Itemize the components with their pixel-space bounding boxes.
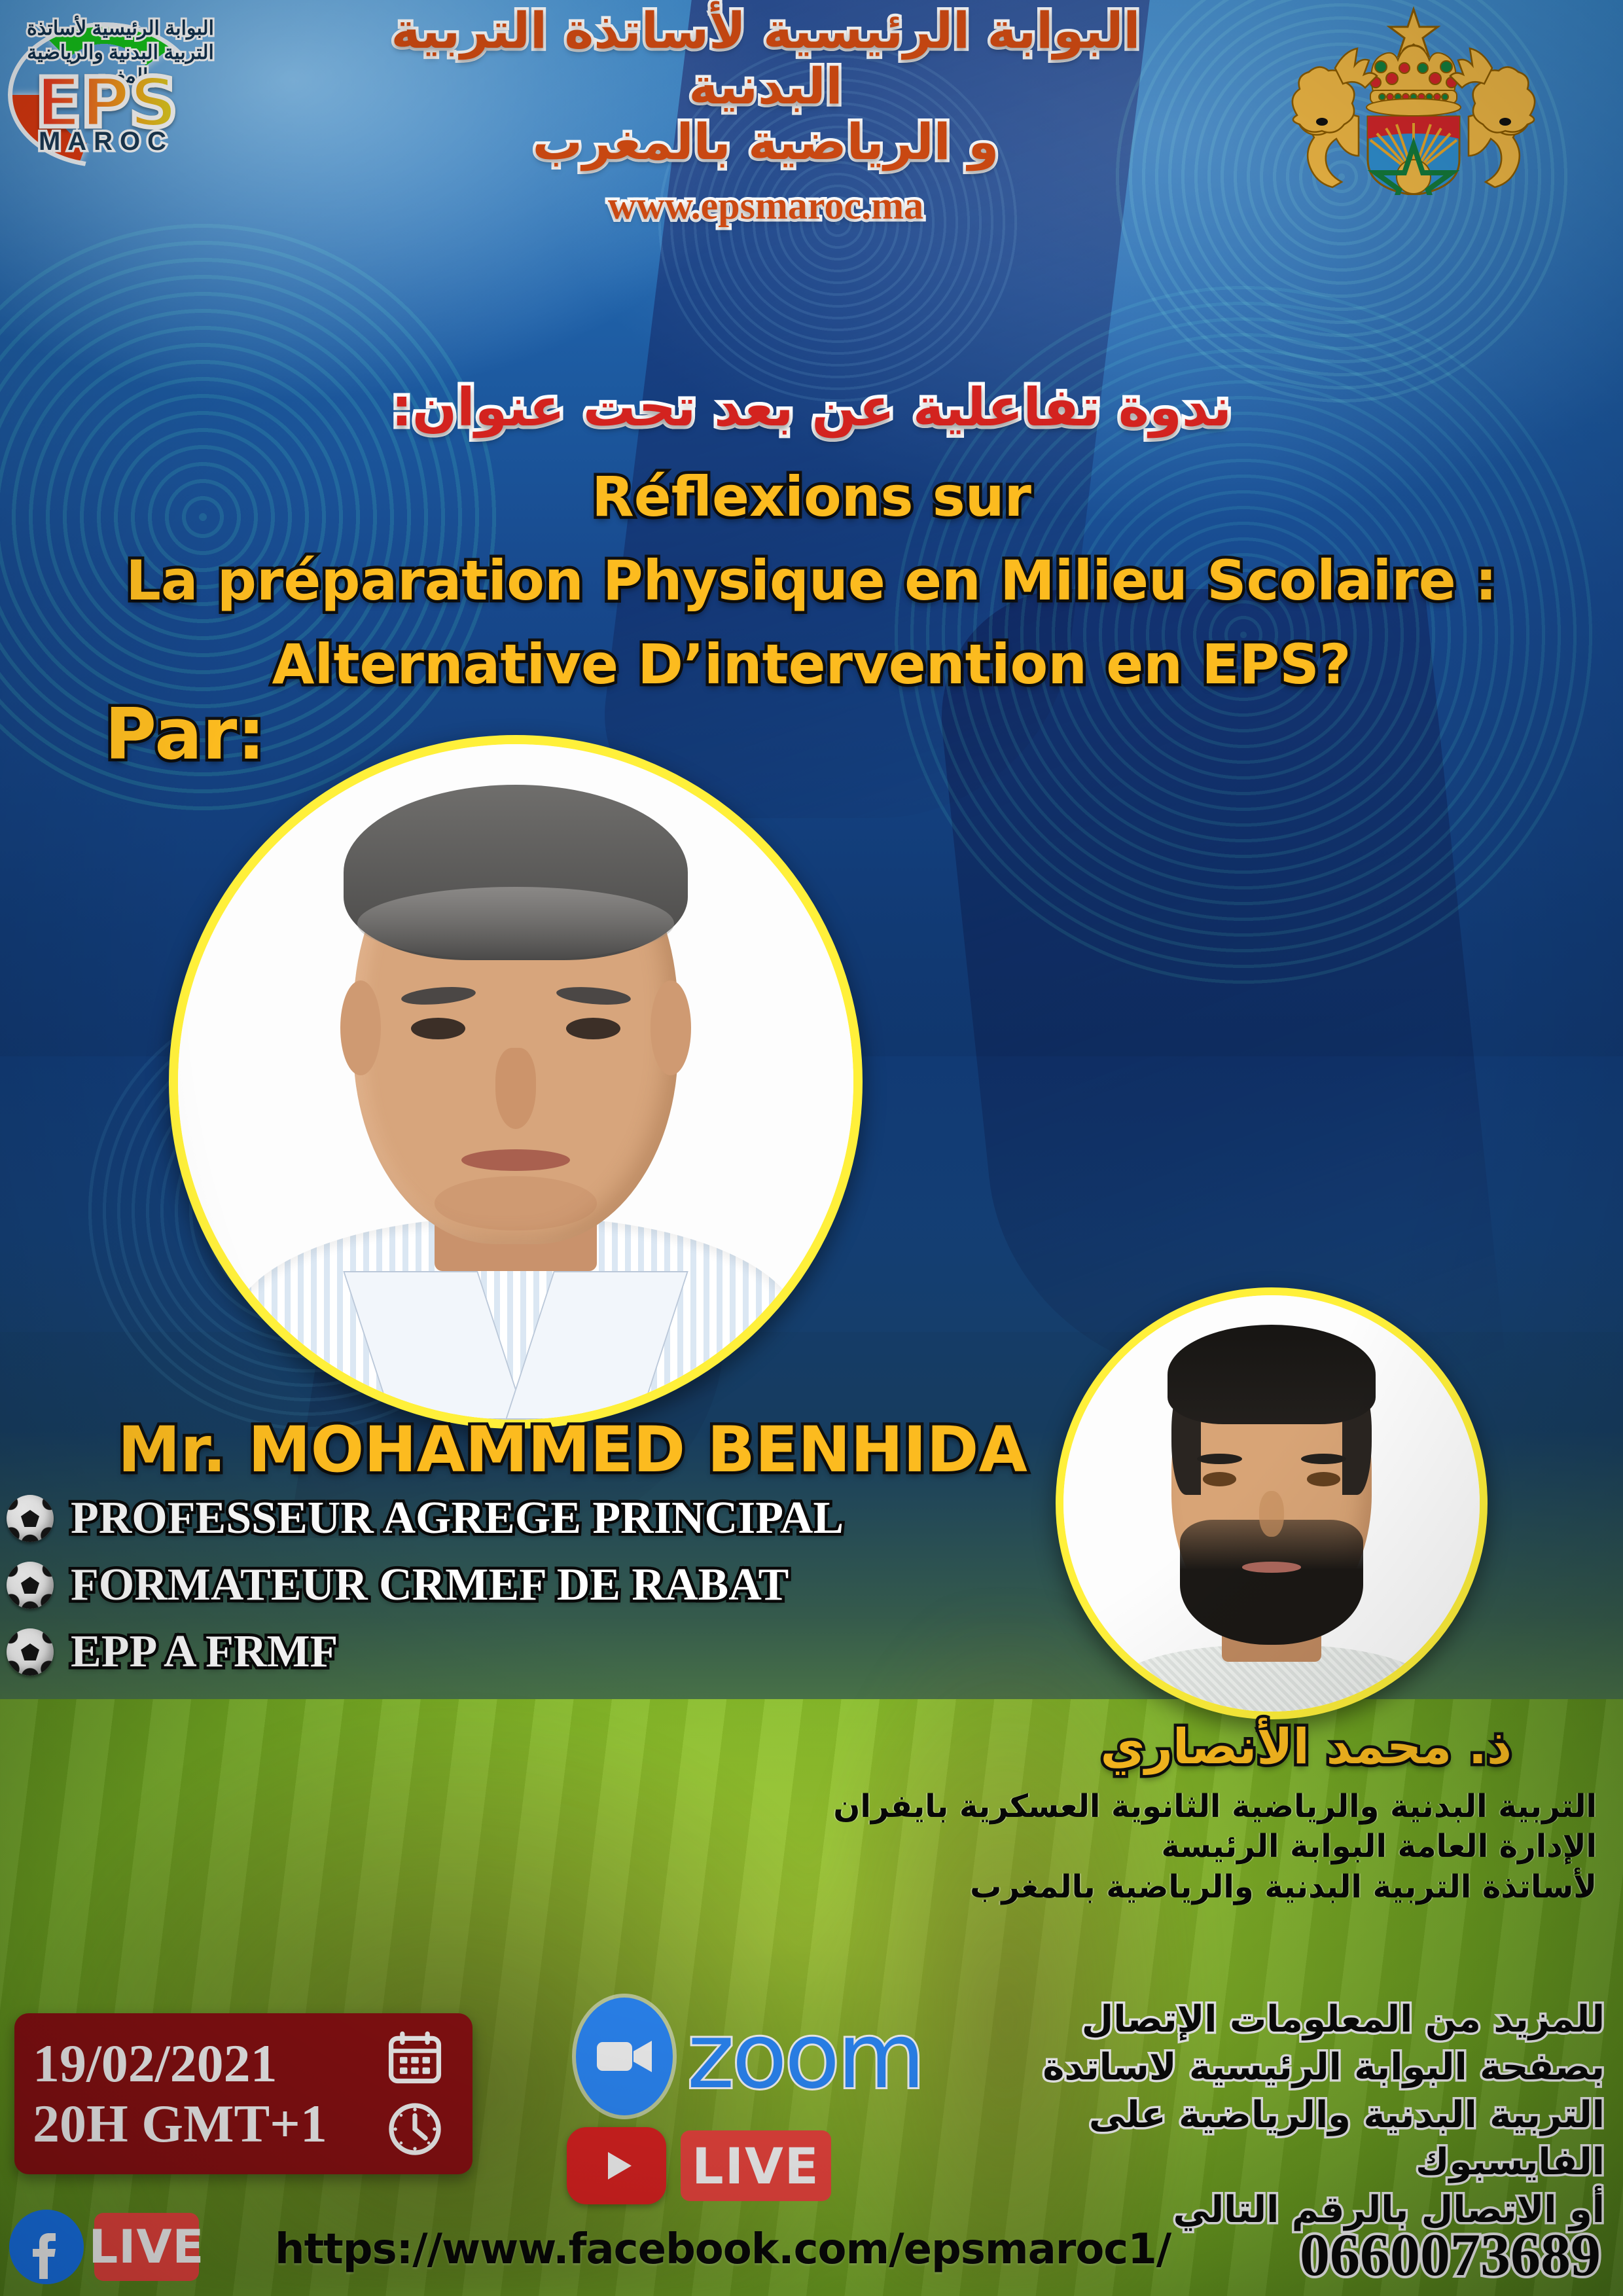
speaker-portrait xyxy=(169,735,863,1429)
moderator-portrait xyxy=(1056,1287,1488,1719)
credential-label: PROFESSEUR AGREGE PRINCIPAL xyxy=(71,1492,844,1545)
zoom-wordmark: zoom xyxy=(687,2016,923,2097)
moderator-role-line: التربية البدنية والرياضية الثانوية العسك… xyxy=(746,1787,1597,1827)
youtube-live-badge: LIVE xyxy=(681,2130,831,2201)
brand-title: البوابة الرئيسية لأساتذة التربية البدنية… xyxy=(308,3,1224,170)
clock-icon xyxy=(385,2099,445,2159)
football-bullet-icon xyxy=(7,1495,54,1542)
calendar-icon xyxy=(385,2028,445,2089)
credential-item: PROFESSEUR AGREGE PRINCIPAL xyxy=(7,1492,844,1545)
morocco-coat-of-arms-icon xyxy=(1230,5,1597,195)
moderator-role-line: لأساتذة التربية البدنية والرياضية بالمغر… xyxy=(746,1867,1597,1907)
facebook-live-block[interactable]: LIVE xyxy=(9,2210,199,2284)
event-date: 19/02/2021 xyxy=(33,2034,376,2094)
contact-phone-number: 0660073689 xyxy=(1300,2220,1601,2289)
brand-url: www.epsmaroc.ma xyxy=(308,183,1224,228)
contact-line: للمزيد من المعلومات الإتصال xyxy=(924,1996,1605,2044)
credential-label: FORMATEUR CRMEF DE RABAT xyxy=(71,1559,789,1611)
contact-info-block: للمزيد من المعلومات الإتصال بصفحة البواب… xyxy=(924,1996,1605,2234)
schedule-icons xyxy=(376,2028,454,2159)
credential-item: FORMATEUR CRMEF DE RABAT xyxy=(7,1559,844,1611)
eps-maroc-logo: البوابة الرئيسية لأساتذة التربية البدنية… xyxy=(7,12,223,169)
contact-line: بصفحة البوابة الرئيسية لاساتدة xyxy=(924,2044,1605,2092)
zoom-platform-logo[interactable]: zoom xyxy=(576,1998,923,2115)
football-bullet-icon xyxy=(7,1562,54,1609)
headline-arabic: ندوة تفاعلية عن بعد تحت عنوان: xyxy=(0,377,1623,438)
youtube-live-block[interactable]: LIVE xyxy=(567,2127,831,2204)
speaker-credentials-list: PROFESSEUR AGREGE PRINCIPAL FORMATEUR CR… xyxy=(7,1492,844,1693)
moderator-roles: التربية البدنية والرياضية الثانوية العسك… xyxy=(746,1787,1597,1907)
logo-maroc-label: MAROC xyxy=(22,127,190,156)
moderator-role-line: الإدارة العامة البوابة الرئيسة xyxy=(746,1827,1597,1867)
headline-french-line1: Réflexions sur xyxy=(0,465,1623,529)
webinar-poster: البوابة الرئيسية لأساتذة التربية البدنية… xyxy=(0,0,1623,2296)
schedule-box: 19/02/2021 20H GMT+1 xyxy=(14,2013,473,2174)
moderator-name: ذ. محمد الأنصاري xyxy=(1101,1719,1512,1775)
credential-label: EPP A FRMF xyxy=(71,1626,338,1678)
facebook-icon xyxy=(9,2210,84,2284)
schedule-text: 19/02/2021 20H GMT+1 xyxy=(33,2034,376,2154)
event-time: 20H GMT+1 xyxy=(33,2094,376,2154)
youtube-icon xyxy=(567,2127,666,2204)
facebook-live-badge: LIVE xyxy=(94,2213,199,2281)
credential-item: EPP A FRMF xyxy=(7,1626,844,1678)
headline-french-line2: La préparation Physique en Milieu Scolai… xyxy=(0,548,1623,613)
football-bullet-icon xyxy=(7,1628,54,1676)
brand-title-line1: البوابة الرئيسية لأساتذة التربية البدنية xyxy=(308,3,1224,114)
headline-french-line3: Alternative D’intervention en EPS? xyxy=(0,632,1623,696)
contact-line: التربية البدنية والرياضية على الفايسبوك xyxy=(924,2092,1605,2187)
speaker-name: Mr. MOHAMMED BENHIDA xyxy=(118,1413,1027,1486)
brand-title-line2: و الرياضية بالمغرب xyxy=(308,114,1224,170)
zoom-camera-icon xyxy=(576,1998,673,2115)
